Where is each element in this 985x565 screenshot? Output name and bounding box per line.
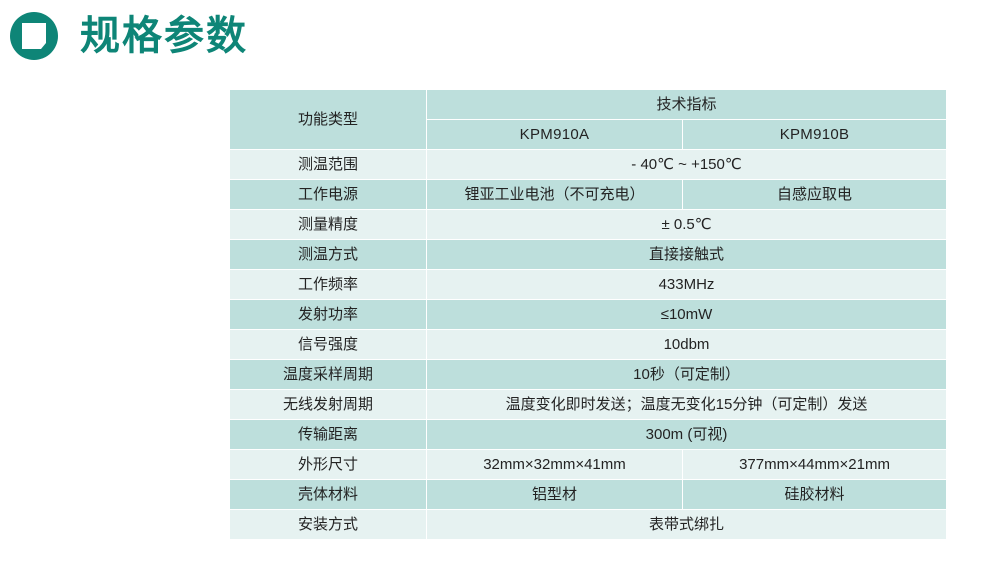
table-row: 测温范围- 40℃ ~ +150℃: [230, 150, 946, 179]
row-value-model-b: 硅胶材料: [683, 480, 946, 509]
table-row: 信号强度10dbm: [230, 330, 946, 359]
row-value-shared: 10秒（可定制）: [427, 360, 946, 389]
section-header: 规格参数: [8, 10, 248, 62]
table-row: 外形尺寸32mm×32mm×41mm377mm×44mm×21mm: [230, 450, 946, 479]
header-label-col: 功能类型: [230, 90, 426, 149]
row-value-shared: 433MHz: [427, 270, 946, 299]
row-value-shared: - 40℃ ~ +150℃: [427, 150, 946, 179]
row-label: 壳体材料: [230, 480, 426, 509]
row-label: 信号强度: [230, 330, 426, 359]
row-value-shared: ± 0.5℃: [427, 210, 946, 239]
table-row: 工作频率433MHz: [230, 270, 946, 299]
row-value-shared: 10dbm: [427, 330, 946, 359]
row-value-model-b: 377mm×44mm×21mm: [683, 450, 946, 479]
page-title: 规格参数: [80, 16, 248, 56]
row-value-shared: ≤10mW: [427, 300, 946, 329]
row-value-model-a: 铝型材: [427, 480, 682, 509]
table-row: 测量精度± 0.5℃: [230, 210, 946, 239]
row-value-shared: 300m (可视): [427, 420, 946, 449]
spec-table-container: 功能类型 技术指标 KPM910A KPM910B 测温范围- 40℃ ~ +1…: [229, 89, 945, 540]
row-label: 测温方式: [230, 240, 426, 269]
table-row: 工作电源锂亚工业电池（不可充电）自感应取电: [230, 180, 946, 209]
row-value-model-a: 32mm×32mm×41mm: [427, 450, 682, 479]
header-model-a: KPM910A: [427, 120, 682, 149]
table-row: 壳体材料铝型材硅胶材料: [230, 480, 946, 509]
row-label: 外形尺寸: [230, 450, 426, 479]
header-model-b: KPM910B: [683, 120, 946, 149]
row-label: 安装方式: [230, 510, 426, 539]
row-label: 测温范围: [230, 150, 426, 179]
table-row: 无线发射周期温度变化即时发送；温度无变化15分钟（可定制）发送: [230, 390, 946, 419]
row-label: 温度采样周期: [230, 360, 426, 389]
row-label: 传输距离: [230, 420, 426, 449]
row-value-shared: 直接接触式: [427, 240, 946, 269]
table-row: 测温方式直接接触式: [230, 240, 946, 269]
table-header-row-group: 功能类型 技术指标: [230, 90, 946, 119]
row-label: 无线发射周期: [230, 390, 426, 419]
row-label: 工作频率: [230, 270, 426, 299]
row-value-shared: 温度变化即时发送；温度无变化15分钟（可定制）发送: [427, 390, 946, 419]
table-row: 安装方式表带式绑扎: [230, 510, 946, 539]
specification-table: 功能类型 技术指标 KPM910A KPM910B 测温范围- 40℃ ~ +1…: [229, 89, 947, 540]
row-label: 发射功率: [230, 300, 426, 329]
row-value-shared: 表带式绑扎: [427, 510, 946, 539]
table-row: 温度采样周期10秒（可定制）: [230, 360, 946, 389]
row-label: 测量精度: [230, 210, 426, 239]
spec-sheet-page: 规格参数 功能类型 技术指标 KPM910A KPM910B 测温范围: [0, 0, 985, 565]
document-square-icon: [8, 10, 60, 62]
table-row: 传输距离300m (可视): [230, 420, 946, 449]
row-value-model-b: 自感应取电: [683, 180, 946, 209]
header-spec-group: 技术指标: [427, 90, 946, 119]
table-row: 发射功率≤10mW: [230, 300, 946, 329]
spec-table-body: 功能类型 技术指标 KPM910A KPM910B 测温范围- 40℃ ~ +1…: [230, 90, 946, 539]
row-label: 工作电源: [230, 180, 426, 209]
row-value-model-a: 锂亚工业电池（不可充电）: [427, 180, 682, 209]
